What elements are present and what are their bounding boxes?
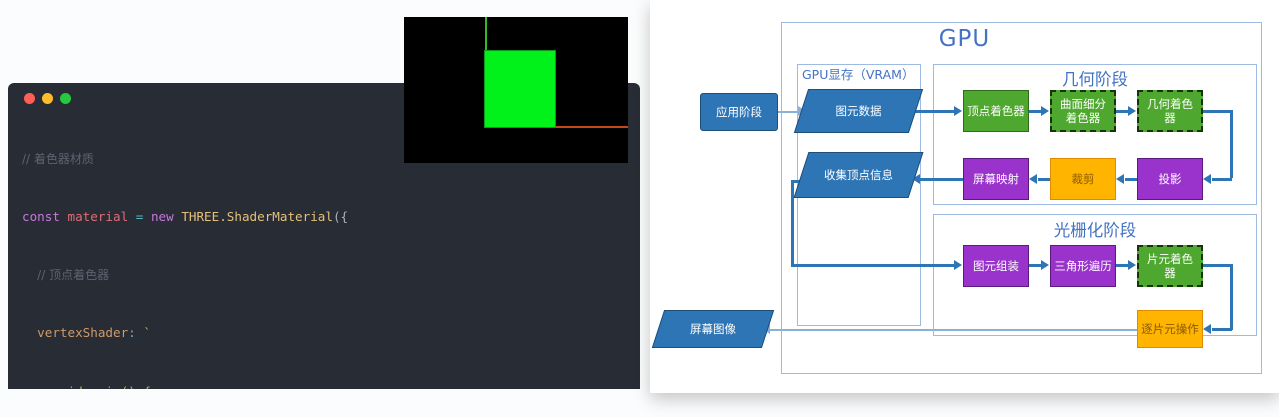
code-comment: // 顶点着色器 bbox=[37, 268, 109, 282]
punct-colon: : bbox=[128, 325, 136, 340]
code-comment: // 着色器材质 bbox=[22, 152, 94, 166]
node-label: 应用阶段 bbox=[701, 94, 777, 130]
connector-fragsh-down bbox=[1230, 264, 1233, 330]
node-primitive-data[interactable]: 图元数据 bbox=[794, 89, 923, 133]
connector-to-primasm bbox=[791, 264, 956, 267]
connector-geosh-down bbox=[1230, 110, 1233, 178]
gpu-pipeline-diagram: GPU GPU显存（VRAM） 几何阶段 光栅化阶段 bbox=[650, 0, 1279, 393]
node-label: 屏幕图像 bbox=[659, 311, 767, 347]
arrow-to-primasm bbox=[954, 260, 962, 270]
sp3 bbox=[143, 209, 151, 224]
glsl-void-main: void main() { bbox=[52, 384, 151, 389]
punct-backtick: ` bbox=[143, 325, 151, 340]
connector-collect-down bbox=[791, 180, 794, 266]
keyword-const: const bbox=[22, 209, 60, 224]
connector-geosh-right bbox=[1203, 110, 1232, 113]
node-screen-image[interactable]: 屏幕图像 bbox=[652, 310, 774, 348]
connector-primdata-to-vertexshader bbox=[912, 110, 956, 113]
arrow-primdata-to-vertexshader bbox=[954, 106, 962, 116]
title-geometry-stage: 几何阶段 bbox=[933, 66, 1257, 90]
arrow-primasm-to-tritrav bbox=[1041, 260, 1049, 270]
connector-into-perfrag bbox=[1212, 328, 1232, 331]
sp bbox=[60, 209, 68, 224]
webgl-render-canvas[interactable] bbox=[404, 17, 628, 163]
screenshot-root: // 着色器材质 const material = new THREE.Shad… bbox=[0, 0, 1279, 417]
close-icon[interactable] bbox=[24, 93, 35, 104]
connector-into-projection bbox=[1212, 178, 1232, 181]
axis-x-line bbox=[552, 126, 628, 128]
node-fragment-shader[interactable]: 片元着色器 bbox=[1137, 245, 1203, 287]
node-tessellation-shader[interactable]: 曲面细分着色器 bbox=[1050, 90, 1116, 132]
identifier-material: material bbox=[68, 209, 129, 224]
arrow-projection-to-clip bbox=[1116, 174, 1124, 184]
node-collect-vertex-info[interactable]: 收集顶点信息 bbox=[794, 152, 924, 198]
arrow-vertex-to-tess bbox=[1041, 106, 1049, 116]
keyword-new: new bbox=[151, 209, 174, 224]
code-line: void main() { bbox=[22, 382, 630, 389]
arrow-tess-to-geosh bbox=[1128, 106, 1136, 116]
green-quad-mesh bbox=[485, 51, 555, 127]
minimize-icon[interactable] bbox=[42, 93, 53, 104]
node-vertex-shader[interactable]: 顶点着色器 bbox=[963, 90, 1029, 132]
maximize-icon[interactable] bbox=[60, 93, 71, 104]
arrow-clip-to-screenmap bbox=[1029, 174, 1037, 184]
punct-open: ({ bbox=[333, 209, 348, 224]
connector-screenmap-to-collect bbox=[920, 178, 964, 181]
node-clipping[interactable]: 裁剪 bbox=[1050, 158, 1116, 200]
window-traffic-lights bbox=[24, 93, 71, 104]
node-application-stage[interactable]: 应用阶段 bbox=[700, 93, 778, 131]
code-line: const material = new THREE.ShaderMateria… bbox=[22, 207, 630, 226]
code-line: // 顶点着色器 bbox=[22, 265, 630, 284]
node-label: 图元数据 bbox=[802, 90, 915, 132]
node-projection[interactable]: 投影 bbox=[1137, 158, 1203, 200]
connector-fragsh-right bbox=[1203, 264, 1232, 267]
title-gpu: GPU bbox=[650, 26, 1279, 52]
node-geometry-shader[interactable]: 几何着色器 bbox=[1137, 90, 1203, 132]
title-vram: GPU显存（VRAM） bbox=[802, 64, 914, 83]
node-screen-mapping[interactable]: 屏幕映射 bbox=[963, 158, 1029, 200]
arrow-into-perfrag bbox=[1203, 324, 1211, 334]
node-label: 收集顶点信息 bbox=[802, 153, 915, 197]
connector-app-to-primdata bbox=[778, 111, 800, 113]
prop-vertexshader: vertexShader bbox=[37, 325, 128, 340]
node-per-fragment-ops[interactable]: 逐片元操作 bbox=[1137, 310, 1203, 348]
arrow-tritrav-to-fragsh bbox=[1128, 260, 1136, 270]
class-shadermaterial: THREE.ShaderMaterial bbox=[181, 209, 333, 224]
node-triangle-traversal[interactable]: 三角形遍历 bbox=[1050, 245, 1116, 287]
title-rasterization-stage: 光栅化阶段 bbox=[933, 217, 1257, 241]
arrow-into-projection bbox=[1203, 174, 1211, 184]
connector-perfrag-to-screenimage bbox=[768, 329, 1138, 331]
node-primitive-assembly[interactable]: 图元组装 bbox=[963, 245, 1029, 287]
sp2 bbox=[128, 209, 136, 224]
code-line: vertexShader: ` bbox=[22, 323, 630, 342]
